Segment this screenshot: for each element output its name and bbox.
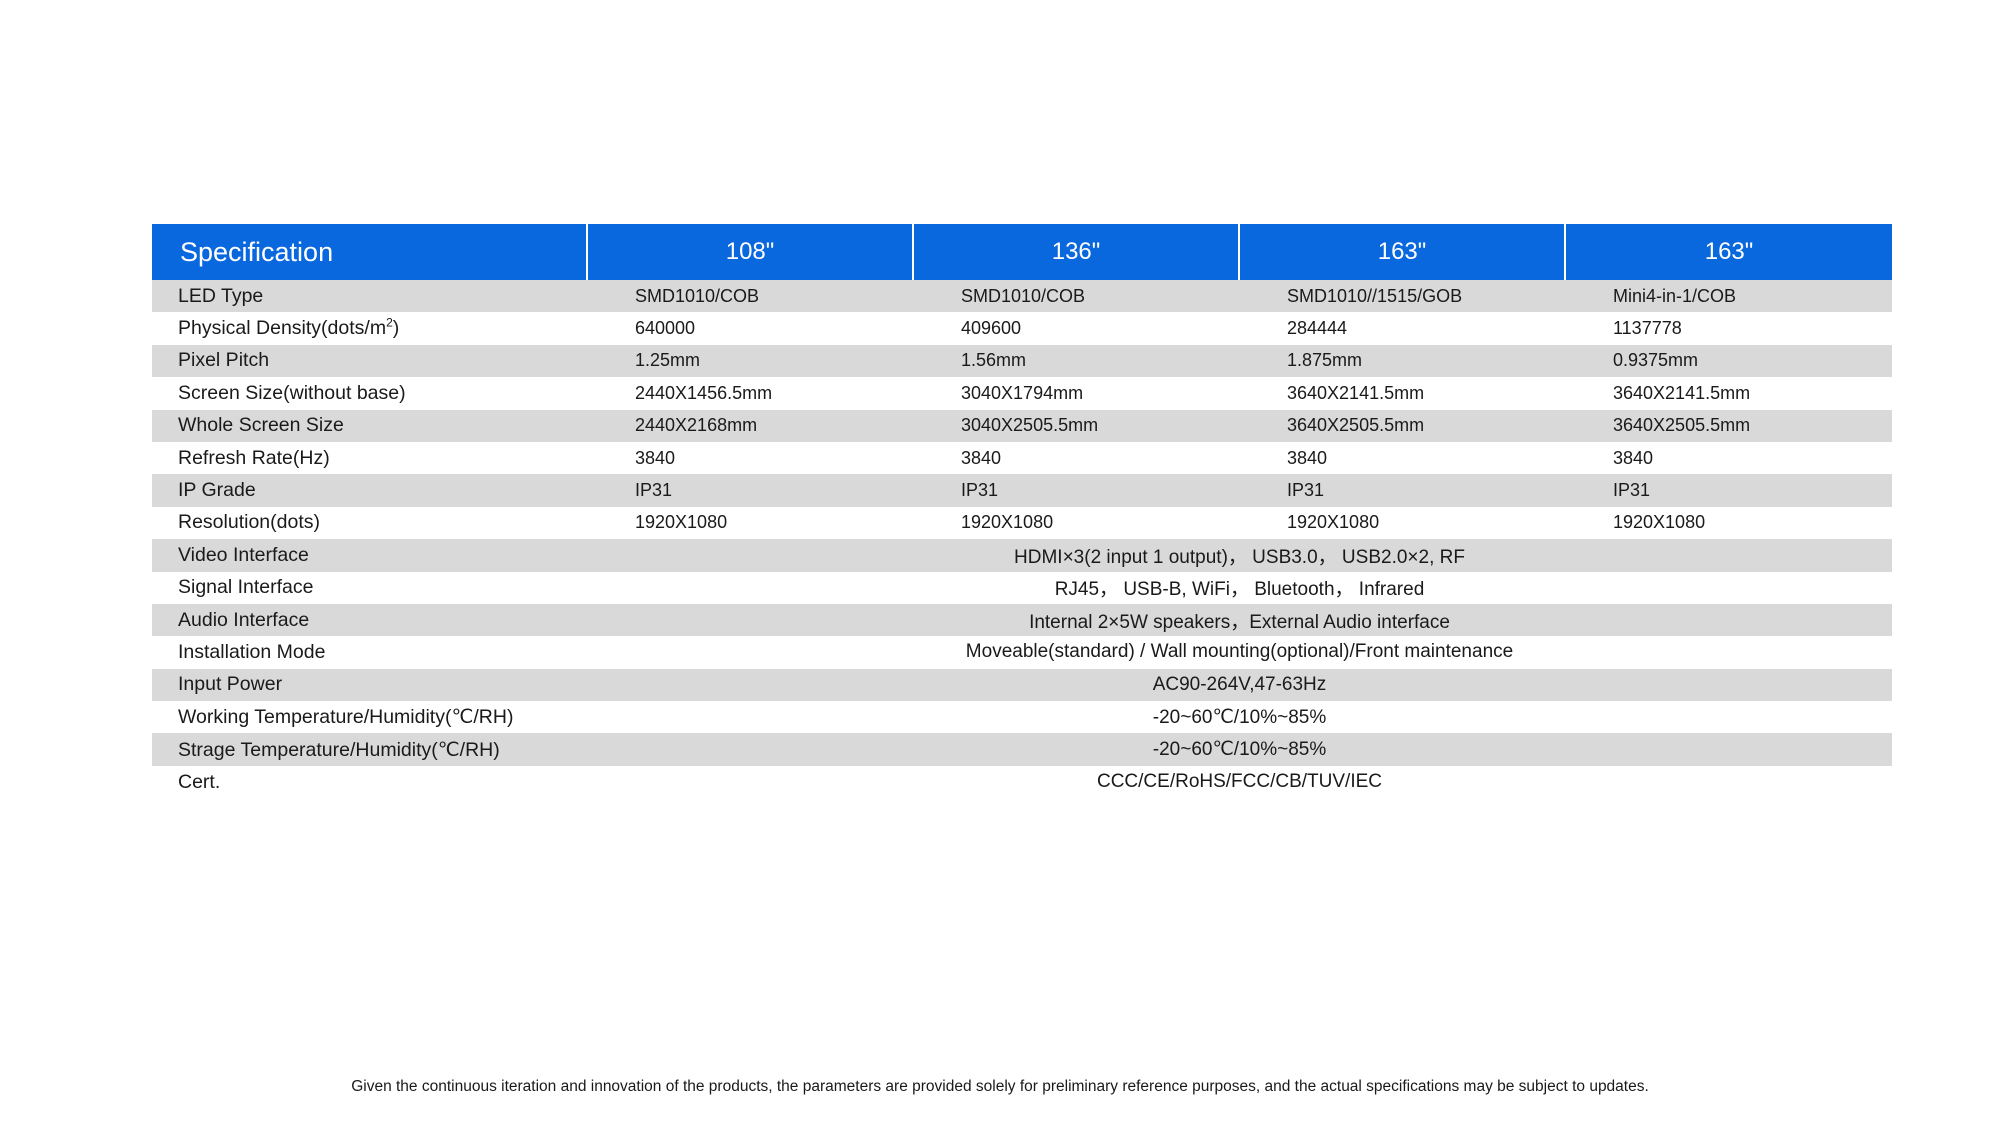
row-value-col-4: 3640X2141.5mm bbox=[1565, 377, 1892, 409]
row-label: Refresh Rate(Hz) bbox=[152, 442, 587, 474]
row-value-col-2: 409600 bbox=[913, 312, 1239, 344]
row-label: Screen Size(without base) bbox=[152, 377, 587, 409]
header-col-136: 136" bbox=[913, 224, 1239, 280]
row-label: Resolution(dots) bbox=[152, 507, 587, 539]
row-value-col-1: 1.25mm bbox=[587, 345, 913, 377]
row-value-col-4: Mini4-in-1/COB bbox=[1565, 280, 1892, 312]
row-label: Strage Temperature/Humidity(℃/RH) bbox=[152, 733, 587, 765]
table-row: Cert.CCC/CE/RoHS/FCC/CB/TUV/IEC bbox=[152, 766, 1892, 798]
row-value-merged: RJ45， USB-B, WiFi， Bluetooth， Infrared bbox=[587, 572, 1892, 604]
row-value-merged: -20~60℃/10%~85% bbox=[587, 733, 1892, 765]
footnote-disclaimer: Given the continuous iteration and innov… bbox=[0, 1078, 2000, 1096]
row-value-col-1: IP31 bbox=[587, 474, 913, 506]
row-value-col-4: IP31 bbox=[1565, 474, 1892, 506]
header-row: Specification 108" 136" 163" 163" bbox=[152, 224, 1892, 280]
row-value-col-3: IP31 bbox=[1239, 474, 1565, 506]
spec-sheet-page: Specification 108" 136" 163" 163" LED Ty… bbox=[0, 0, 2000, 1125]
row-value-col-1: 640000 bbox=[587, 312, 913, 344]
row-value-col-2: 1920X1080 bbox=[913, 507, 1239, 539]
table-row: Pixel Pitch1.25mm1.56mm1.875mm0.9375mm bbox=[152, 345, 1892, 377]
table-body: LED TypeSMD1010/COBSMD1010/COBSMD1010//1… bbox=[152, 280, 1892, 798]
row-value-col-2: 3040X2505.5mm bbox=[913, 410, 1239, 442]
row-label: IP Grade bbox=[152, 474, 587, 506]
table-row: Input PowerAC90-264V,47-63Hz bbox=[152, 669, 1892, 701]
row-value-col-1: SMD1010/COB bbox=[587, 280, 913, 312]
row-value-col-3: 284444 bbox=[1239, 312, 1565, 344]
table-row: Resolution(dots)1920X10801920X10801920X1… bbox=[152, 507, 1892, 539]
row-label: Whole Screen Size bbox=[152, 410, 587, 442]
row-value-merged: AC90-264V,47-63Hz bbox=[587, 669, 1892, 701]
table-row: Strage Temperature/Humidity(℃/RH)-20~60℃… bbox=[152, 733, 1892, 765]
table-row: Whole Screen Size2440X2168mm3040X2505.5m… bbox=[152, 410, 1892, 442]
table-row: Physical Density(dots/m2)640000409600284… bbox=[152, 312, 1892, 344]
row-value-col-4: 3640X2505.5mm bbox=[1565, 410, 1892, 442]
row-value-merged: CCC/CE/RoHS/FCC/CB/TUV/IEC bbox=[587, 766, 1892, 798]
row-value-col-2: 3840 bbox=[913, 442, 1239, 474]
row-value-col-2: IP31 bbox=[913, 474, 1239, 506]
row-value-col-2: SMD1010/COB bbox=[913, 280, 1239, 312]
row-value-merged: Moveable(standard) / Wall mounting(optio… bbox=[587, 636, 1892, 668]
row-value-col-1: 2440X2168mm bbox=[587, 410, 913, 442]
row-value-col-2: 1.56mm bbox=[913, 345, 1239, 377]
header-col-108: 108" bbox=[587, 224, 913, 280]
table-row: Video InterfaceHDMI×3(2 input 1 output)，… bbox=[152, 539, 1892, 571]
row-label: Signal Interface bbox=[152, 572, 587, 604]
row-label: Video Interface bbox=[152, 539, 587, 571]
table-row: Screen Size(without base)2440X1456.5mm30… bbox=[152, 377, 1892, 409]
row-label: Pixel Pitch bbox=[152, 345, 587, 377]
row-value-col-4: 0.9375mm bbox=[1565, 345, 1892, 377]
table-row: Audio InterfaceInternal 2×5W speakers，Ex… bbox=[152, 604, 1892, 636]
row-label: Installation Mode bbox=[152, 636, 587, 668]
row-value-col-4: 1920X1080 bbox=[1565, 507, 1892, 539]
row-value-col-1: 3840 bbox=[587, 442, 913, 474]
row-value-col-3: SMD1010//1515/GOB bbox=[1239, 280, 1565, 312]
table-row: LED TypeSMD1010/COBSMD1010/COBSMD1010//1… bbox=[152, 280, 1892, 312]
row-label: Audio Interface bbox=[152, 604, 587, 636]
row-label: Physical Density(dots/m2) bbox=[152, 312, 587, 344]
row-value-col-1: 2440X1456.5mm bbox=[587, 377, 913, 409]
row-value-col-3: 3640X2141.5mm bbox=[1239, 377, 1565, 409]
row-value-col-2: 3040X1794mm bbox=[913, 377, 1239, 409]
specification-table: Specification 108" 136" 163" 163" LED Ty… bbox=[152, 224, 1892, 798]
row-label: Working Temperature/Humidity(℃/RH) bbox=[152, 701, 587, 733]
row-label: LED Type bbox=[152, 280, 587, 312]
row-label: Cert. bbox=[152, 766, 587, 798]
table-row: Working Temperature/Humidity(℃/RH)-20~60… bbox=[152, 701, 1892, 733]
table-header: Specification 108" 136" 163" 163" bbox=[152, 224, 1892, 280]
table-row: Installation ModeMoveable(standard) / Wa… bbox=[152, 636, 1892, 668]
row-value-col-4: 1137778 bbox=[1565, 312, 1892, 344]
row-value-merged: -20~60℃/10%~85% bbox=[587, 701, 1892, 733]
header-col-163-a: 163" bbox=[1239, 224, 1565, 280]
row-value-col-4: 3840 bbox=[1565, 442, 1892, 474]
row-value-col-3: 1.875mm bbox=[1239, 345, 1565, 377]
row-value-col-3: 1920X1080 bbox=[1239, 507, 1565, 539]
header-col-163-b: 163" bbox=[1565, 224, 1892, 280]
row-value-merged: Internal 2×5W speakers，External Audio in… bbox=[587, 604, 1892, 636]
row-value-col-1: 1920X1080 bbox=[587, 507, 913, 539]
header-specification: Specification bbox=[152, 224, 587, 280]
table-row: Refresh Rate(Hz)3840384038403840 bbox=[152, 442, 1892, 474]
row-value-col-3: 3640X2505.5mm bbox=[1239, 410, 1565, 442]
row-value-col-3: 3840 bbox=[1239, 442, 1565, 474]
row-value-merged: HDMI×3(2 input 1 output)， USB3.0， USB2.0… bbox=[587, 539, 1892, 571]
table-row: IP GradeIP31IP31IP31IP31 bbox=[152, 474, 1892, 506]
row-label: Input Power bbox=[152, 669, 587, 701]
table-row: Signal InterfaceRJ45， USB-B, WiFi， Bluet… bbox=[152, 572, 1892, 604]
